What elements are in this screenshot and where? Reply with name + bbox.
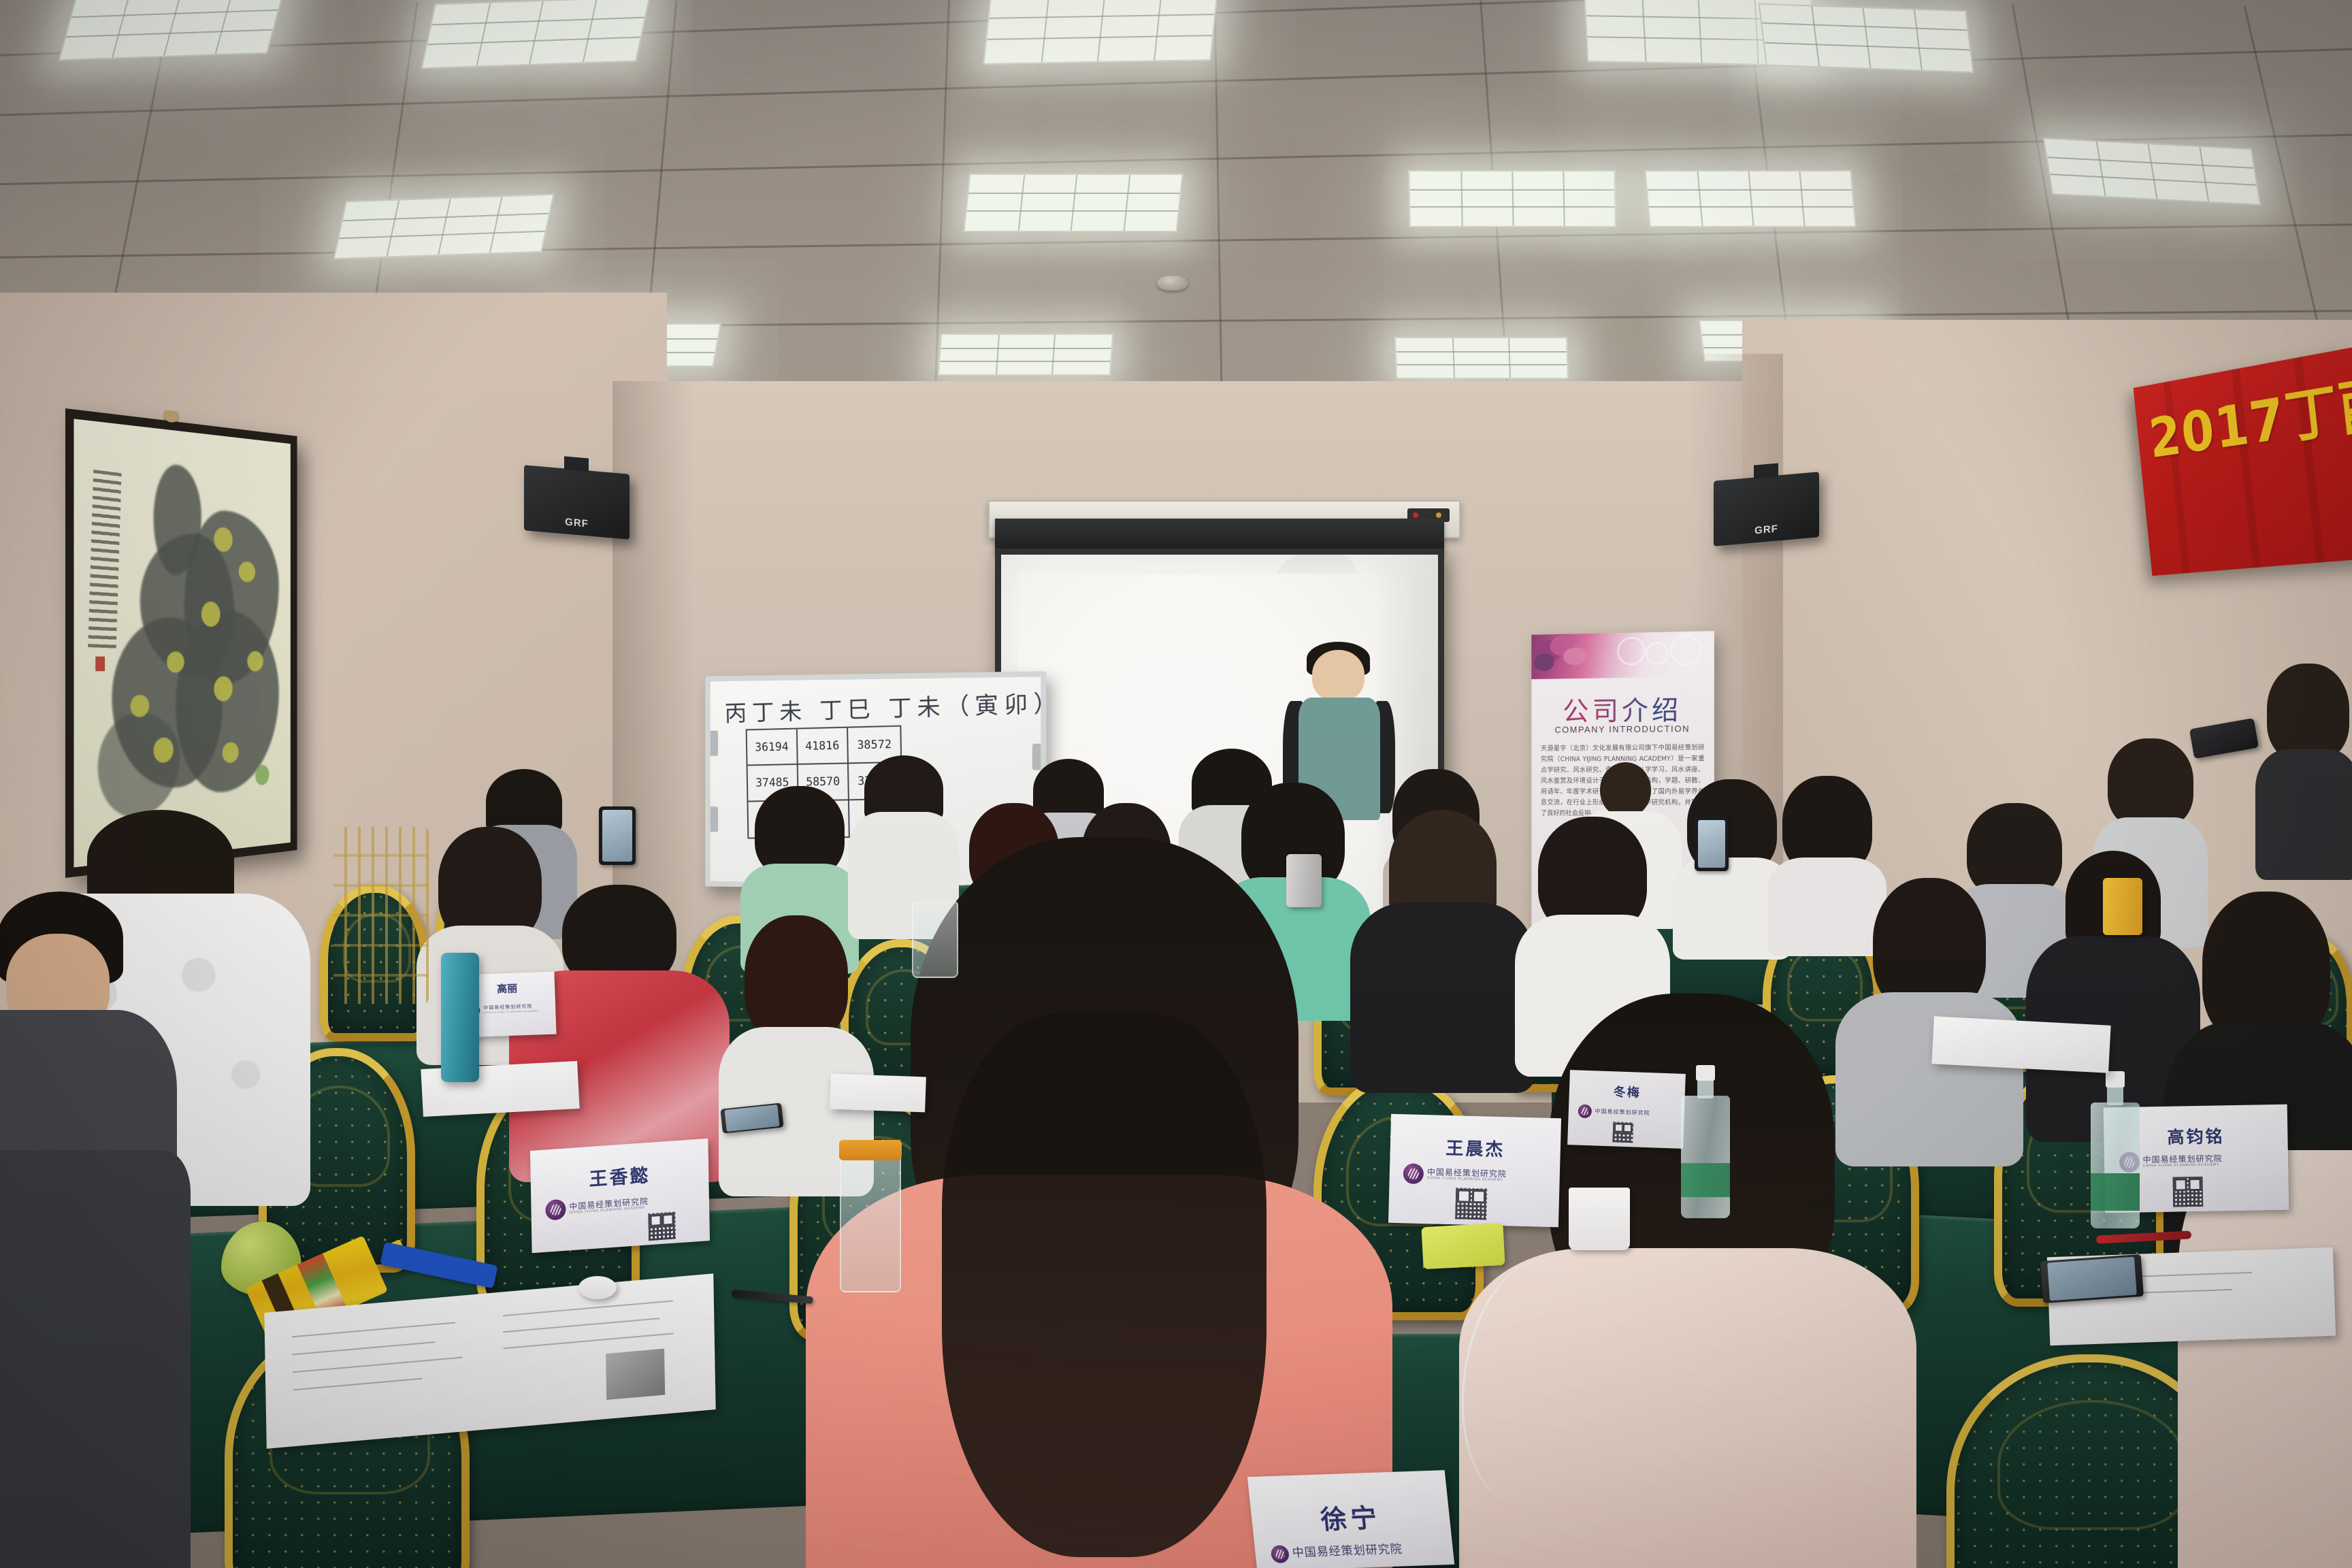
academy-logo [1271, 1545, 1290, 1563]
name-card-org-cn: 中国易经策划研究院 [1292, 1543, 1403, 1559]
canned-drink [1286, 854, 1322, 907]
academy-logo [1403, 1163, 1424, 1184]
qr-code [1455, 1188, 1487, 1220]
wall-speaker-right: GRF [1714, 472, 1819, 546]
papers [830, 1074, 926, 1113]
plant-stand [333, 827, 429, 1004]
seminar-room-photo: 丙丁未 丁巳 丁未（寅卯） 36194 41816 38572 37485 58… [0, 0, 2352, 1568]
name-card-name: 冬梅 [1569, 1081, 1686, 1102]
ceiling-light [1759, 3, 1974, 73]
academy-logo [1578, 1105, 1592, 1119]
plastic-jar [840, 1154, 901, 1292]
ceiling-light [421, 0, 650, 69]
canned-drink [2103, 878, 2142, 935]
small-cap [578, 1276, 617, 1299]
calligraphy [88, 470, 122, 648]
wall-speaker-left: GRF [524, 465, 630, 540]
grid-cell: 41816 [797, 728, 849, 766]
name-card: 冬梅 中国易经策划研究院 [1567, 1070, 1686, 1149]
ceiling-light [983, 0, 1218, 65]
water-bottle [1681, 1096, 1730, 1218]
attendee [2259, 664, 2352, 868]
qr-code [648, 1211, 676, 1241]
name-card: 王晨杰 中国易经策划研究院 CHINA YIJING PLANNING ACAD… [1388, 1114, 1561, 1227]
floral-decoration [1531, 631, 1714, 679]
attendee-foreground-bottomleft [0, 1150, 191, 1568]
ceiling-light [2043, 137, 2261, 206]
red-seal [95, 656, 105, 671]
ceiling-light [963, 174, 1183, 232]
grid-cell: 36194 [747, 729, 798, 766]
drinking-glass [912, 902, 958, 978]
name-card-org-cn: 中国易经策划研究院 [1595, 1109, 1650, 1116]
name-card: 徐宁 中国易经策划研究院 [1247, 1470, 1454, 1568]
academy-logo [545, 1199, 566, 1221]
paper-cup [1569, 1188, 1630, 1250]
whiteboard-heading: 丙丁未 丁巳 丁未（寅卯） [724, 684, 1046, 728]
ceiling-light [333, 194, 555, 260]
poster-subtitle: COMPANY INTRODUCTION [1531, 723, 1714, 735]
papers [1931, 1016, 2110, 1073]
ceiling-light [1394, 337, 1569, 379]
qr-code [1612, 1122, 1633, 1143]
name-card-name: 徐宁 [1250, 1494, 1452, 1539]
name-card-name: 王晨杰 [1390, 1133, 1561, 1163]
smartphone-raised [599, 806, 636, 865]
name-card-org-en: CHINA YIJING PLANNING ACADEMY [2143, 1163, 2223, 1169]
red-welcome-banner: 2017丁酉 [2134, 347, 2352, 576]
attendee-foreground-right-edge [2178, 1150, 2352, 1568]
smartphone [2040, 1254, 2144, 1303]
framed-chinese-painting [65, 408, 297, 878]
thermos-flask [441, 953, 479, 1082]
speaker-brand: GRF [565, 516, 589, 529]
smartphone-raised [1695, 817, 1729, 871]
ceiling-light [1408, 170, 1616, 227]
speaker-brand: GRF [1754, 523, 1778, 536]
attendee [1851, 878, 2008, 1150]
ceiling-light [938, 333, 1113, 376]
power-bank [1421, 1223, 1505, 1269]
ceiling-light [59, 0, 284, 61]
qr-code [2172, 1177, 2203, 1207]
ceiling-light [1644, 170, 1856, 227]
name-card: 王香懿 中国易经策划研究院 CHINA YIJING PLANNING ACAD… [530, 1139, 710, 1253]
smoke-detector-icon [1157, 276, 1188, 291]
water-bottle [2091, 1102, 2140, 1228]
name-card-name: 王香懿 [530, 1156, 708, 1195]
